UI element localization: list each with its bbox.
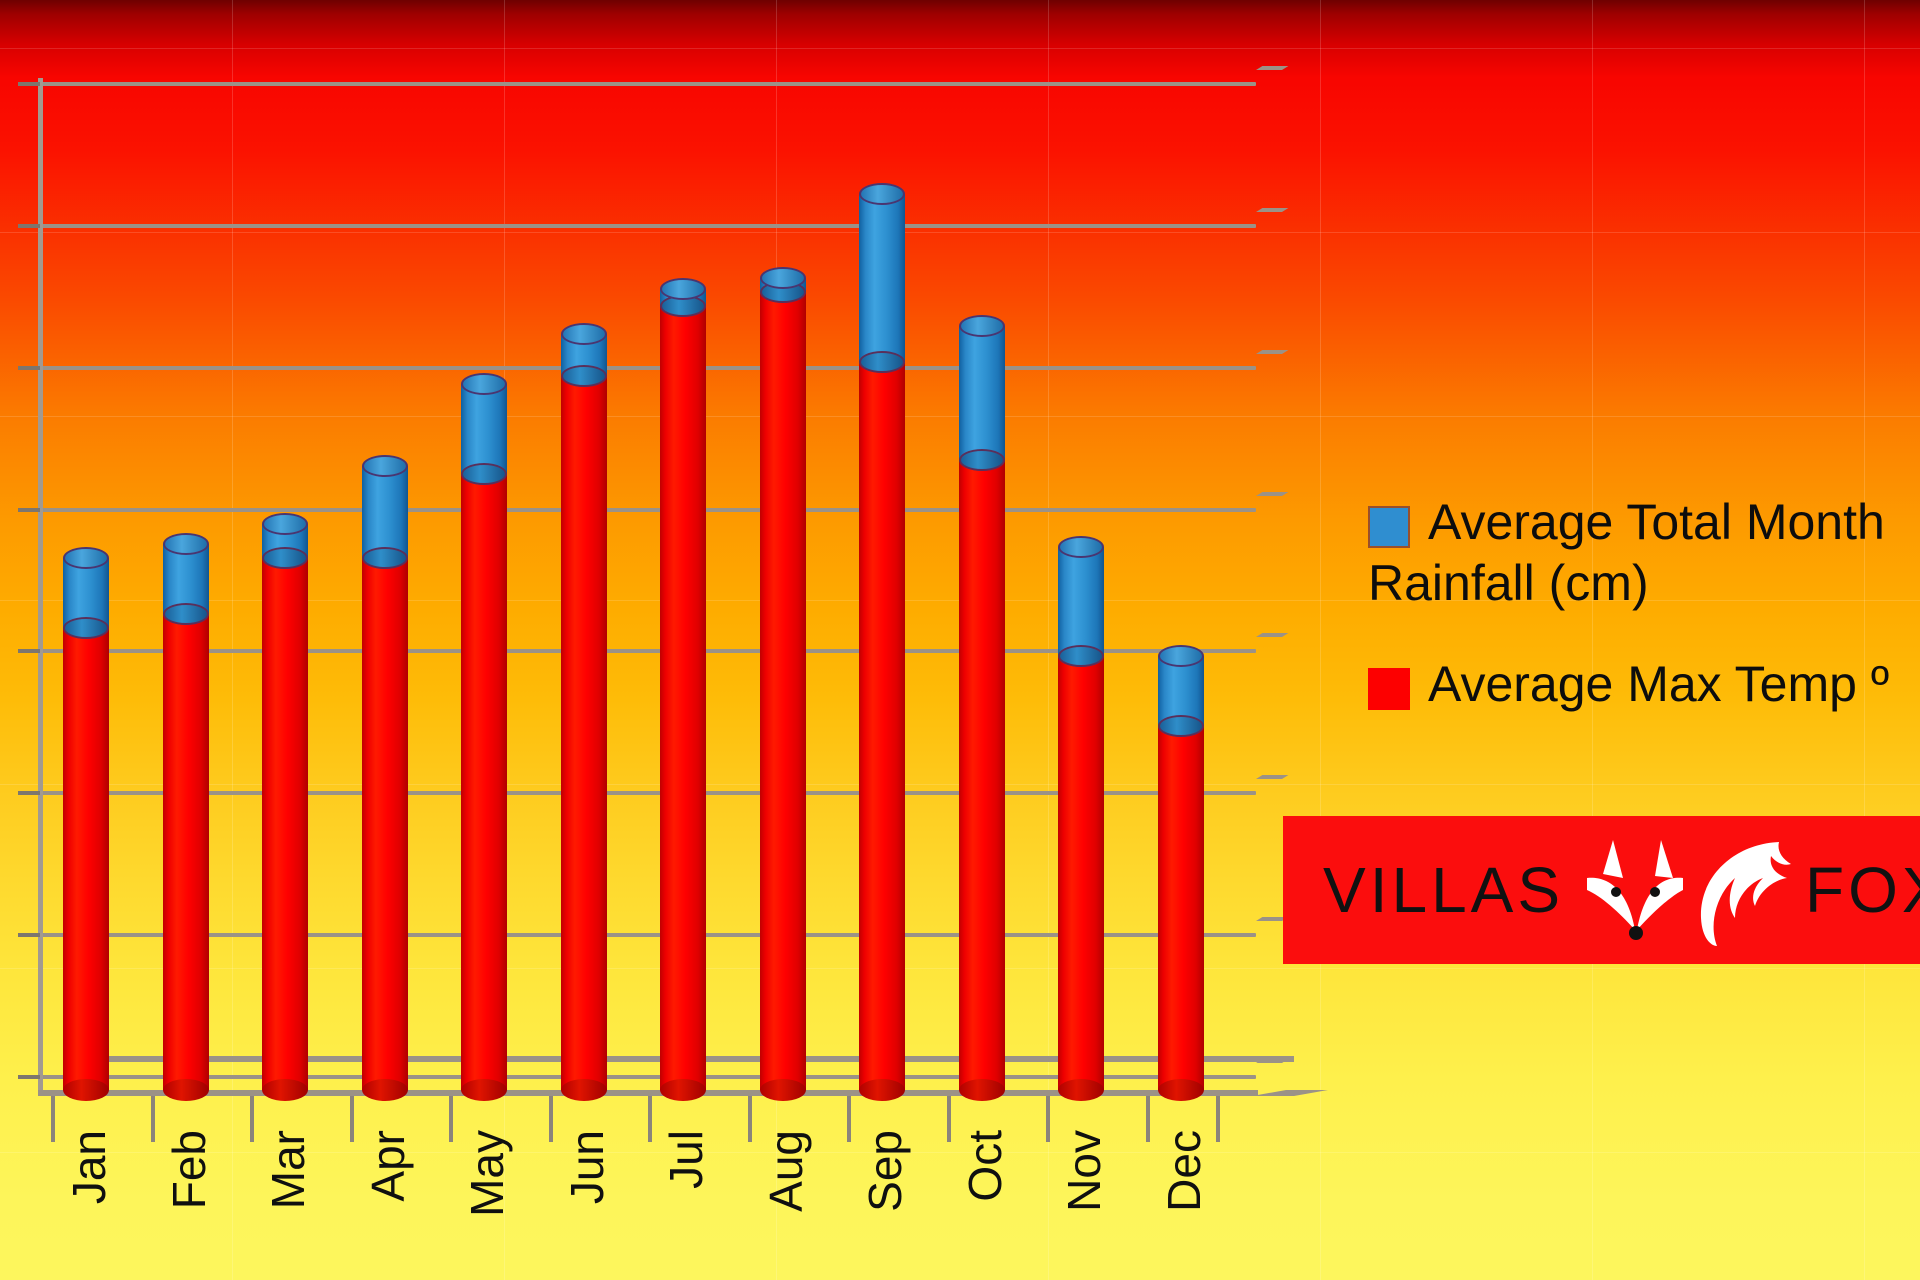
fox-head-and-tail-icon <box>1583 834 1793 946</box>
x-axis-tick <box>51 1096 55 1142</box>
cylinder-body <box>163 614 209 1090</box>
cylinder-body <box>760 292 806 1090</box>
cylinder-bottom-cap <box>859 351 905 373</box>
cylinder-body <box>461 384 507 474</box>
cylinder-bottom-cap <box>1058 645 1104 667</box>
cylinder-body <box>660 306 706 1090</box>
bar-segment-rainfall-jun[interactable] <box>561 334 607 376</box>
cylinder-bottom-cap <box>262 1079 308 1101</box>
bar-segment-maxtemp-mar[interactable] <box>262 558 308 1090</box>
red-square-swatch-icon <box>1368 668 1410 710</box>
cylinder-body <box>1158 726 1204 1090</box>
bar-may[interactable] <box>461 384 507 1090</box>
cylinder-bottom-cap <box>760 1079 806 1101</box>
cylinder-bottom-cap <box>859 1079 905 1101</box>
bar-segment-rainfall-may[interactable] <box>461 384 507 474</box>
bar-jun[interactable] <box>561 334 607 1090</box>
bar-segment-rainfall-nov[interactable] <box>1058 547 1104 656</box>
cylinder-bottom-cap <box>163 603 209 625</box>
x-axis-tick <box>1046 1096 1050 1142</box>
cylinder-bottom-cap <box>1158 1079 1204 1101</box>
cylinder-bottom-cap <box>262 547 308 569</box>
x-axis-label-sep: Sep <box>858 1130 912 1212</box>
cylinder-top-cap <box>362 455 408 477</box>
cylinder-body <box>1058 547 1104 656</box>
cylinder-body <box>63 628 109 1090</box>
cylinder-bottom-cap <box>561 365 607 387</box>
x-axis-label-dec: Dec <box>1157 1130 1211 1212</box>
y-axis-tick <box>18 508 40 512</box>
cylinder-top-cap <box>959 315 1005 337</box>
x-axis-tick <box>151 1096 155 1142</box>
x-axis-tick <box>1216 1096 1220 1142</box>
x-axis-label-jul: Jul <box>659 1130 713 1189</box>
bar-segment-rainfall-jul[interactable] <box>660 289 706 306</box>
y-axis-tick <box>18 791 40 795</box>
x-axis-label-jun: Jun <box>560 1130 614 1204</box>
cylinder-top-cap <box>760 267 806 289</box>
cylinder-top-cap <box>1058 536 1104 558</box>
y-axis-tick <box>18 933 40 937</box>
cylinder-body <box>362 558 408 1090</box>
y-axis-tick <box>18 1075 40 1079</box>
x-axis-tick <box>847 1096 851 1142</box>
legend-item-rainfall[interactable]: Average Total Month Rainfall (cm) <box>1368 492 1920 614</box>
bar-segment-maxtemp-jun[interactable] <box>561 376 607 1090</box>
x-axis-tick <box>748 1096 752 1142</box>
bar-segment-rainfall-aug[interactable] <box>760 278 806 292</box>
bar-segment-maxtemp-oct[interactable] <box>959 460 1005 1090</box>
cylinder-body <box>561 376 607 1090</box>
logo-word-fox: FOX <box>1805 853 1920 927</box>
x-axis-label-aug: Aug <box>759 1130 813 1212</box>
logo-word-villas: VILLAS <box>1323 853 1564 927</box>
bar-segment-maxtemp-feb[interactable] <box>163 614 209 1090</box>
legend-label-rainfall-line1: Average Total Month <box>1428 494 1885 550</box>
bar-segment-maxtemp-apr[interactable] <box>362 558 408 1090</box>
legend-item-maxtemp[interactable]: Average Max Temp º <box>1368 654 1920 715</box>
y-axis-tick <box>18 649 40 653</box>
bar-segment-rainfall-dec[interactable] <box>1158 656 1204 726</box>
x-axis-label-apr: Apr <box>361 1130 415 1202</box>
cylinder-bottom-cap <box>561 1079 607 1101</box>
bar-aug[interactable] <box>760 278 806 1090</box>
bar-segment-rainfall-apr[interactable] <box>362 466 408 558</box>
bar-feb[interactable] <box>163 544 209 1090</box>
x-axis-tick <box>350 1096 354 1142</box>
cylinder-body <box>859 362 905 1090</box>
x-axis-label-mar: Mar <box>261 1130 315 1209</box>
x-axis-tick <box>648 1096 652 1142</box>
y-axis-tick <box>18 366 40 370</box>
bar-segment-maxtemp-jan[interactable] <box>63 628 109 1090</box>
cylinder-top-cap <box>561 323 607 345</box>
bar-segment-maxtemp-may[interactable] <box>461 474 507 1090</box>
bar-segment-maxtemp-jul[interactable] <box>660 306 706 1090</box>
x-axis-label-nov: Nov <box>1057 1130 1111 1212</box>
x-axis-label-oct: Oct <box>958 1130 1012 1202</box>
cylinder-body <box>1058 656 1104 1090</box>
bar-jan[interactable] <box>63 558 109 1090</box>
x-axis-tick <box>1146 1096 1150 1142</box>
legend-label-rainfall: Average Total Month Rainfall (cm) <box>1368 494 1920 614</box>
bar-jul[interactable] <box>660 289 706 1090</box>
x-axis-label-may: May <box>460 1130 514 1217</box>
cylinder-top-cap <box>163 533 209 555</box>
gridline <box>40 82 1256 86</box>
cylinder-bottom-cap <box>362 547 408 569</box>
cylinder-body <box>461 474 507 1090</box>
legend-label-rainfall-line2: Rainfall (cm) <box>1368 553 1920 614</box>
blue-square-swatch-icon <box>1368 506 1410 548</box>
x-axis-tick <box>250 1096 254 1142</box>
cylinder-bottom-cap <box>959 1079 1005 1101</box>
cylinder-body <box>362 466 408 558</box>
chart-plot-area: JanFebMarAprMayJunJulAugSepOctNovDec <box>0 0 1320 1160</box>
cylinder-bottom-cap <box>959 449 1005 471</box>
y-axis-line <box>38 78 43 1092</box>
cylinder-top-cap <box>1158 645 1204 667</box>
cylinder-bottom-cap <box>63 1079 109 1101</box>
cylinder-body <box>959 460 1005 1090</box>
x-axis-tick <box>549 1096 553 1142</box>
cylinder-bottom-cap <box>1158 715 1204 737</box>
bar-segment-rainfall-jan[interactable] <box>63 558 109 628</box>
cylinder-body <box>859 194 905 362</box>
cylinder-bottom-cap <box>461 1079 507 1101</box>
chart-legend: Average Total Month Rainfall (cm) Averag… <box>1368 492 1920 755</box>
bar-segment-maxtemp-aug[interactable] <box>760 292 806 1090</box>
cylinder-body <box>262 558 308 1090</box>
bar-segment-maxtemp-nov[interactable] <box>1058 656 1104 1090</box>
bar-sep[interactable] <box>859 194 905 1090</box>
bar-dec[interactable] <box>1158 656 1204 1090</box>
bar-mar[interactable] <box>262 524 308 1090</box>
bar-apr[interactable] <box>362 466 408 1090</box>
bar-segment-maxtemp-dec[interactable] <box>1158 726 1204 1090</box>
x-axis-tick <box>449 1096 453 1142</box>
floor-right-edge <box>1252 1090 1328 1096</box>
cylinder-bottom-cap <box>63 617 109 639</box>
bar-oct[interactable] <box>959 326 1005 1090</box>
gridline <box>40 508 1256 512</box>
bar-segment-maxtemp-sep[interactable] <box>859 362 905 1090</box>
cylinder-bottom-cap <box>461 463 507 485</box>
legend-label-maxtemp-line1: Average Max Temp º <box>1428 656 1889 712</box>
cylinder-bottom-cap <box>362 1079 408 1101</box>
bar-nov[interactable] <box>1058 547 1104 1090</box>
gridline <box>40 366 1256 370</box>
bar-segment-rainfall-feb[interactable] <box>163 544 209 614</box>
y-axis-tick <box>18 82 40 86</box>
legend-label-maxtemp: Average Max Temp º <box>1428 656 1889 712</box>
y-axis-tick <box>18 224 40 228</box>
x-axis-label-feb: Feb <box>162 1130 216 1209</box>
villas-fox-logo[interactable]: VILLAS FOX <box>1283 816 1920 964</box>
cylinder-bottom-cap <box>660 1079 706 1101</box>
bar-segment-rainfall-sep[interactable] <box>859 194 905 362</box>
bar-segment-rainfall-oct[interactable] <box>959 326 1005 460</box>
x-axis-label-jan: Jan <box>62 1130 116 1204</box>
cylinder-bottom-cap <box>163 1079 209 1101</box>
cylinder-top-cap <box>859 183 905 205</box>
bar-segment-rainfall-mar[interactable] <box>262 524 308 558</box>
x-axis-tick <box>947 1096 951 1142</box>
cylinder-body <box>959 326 1005 460</box>
cylinder-bottom-cap <box>1058 1079 1104 1101</box>
gridline <box>40 224 1256 228</box>
cylinder-top-cap <box>63 547 109 569</box>
